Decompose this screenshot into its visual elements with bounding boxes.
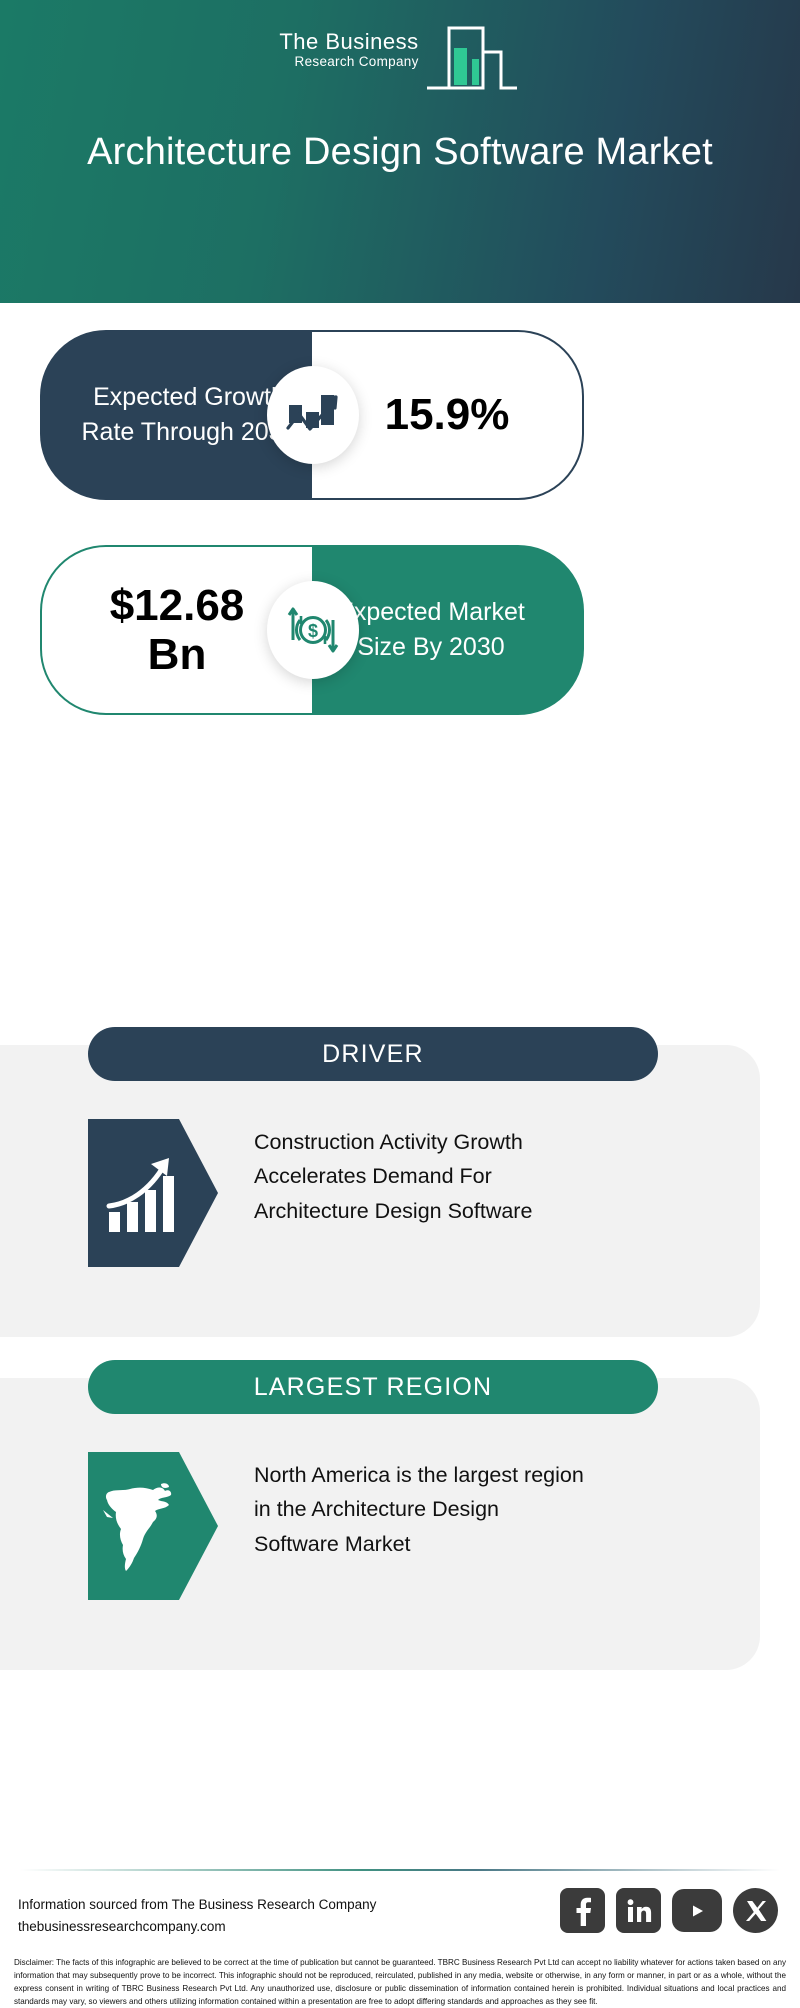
bar-growth-arrow-icon [88, 1119, 218, 1267]
footer-divider [20, 1869, 780, 1871]
stat-card-market-size: $12.68 Bn Expected Market Size By 2030 $ [40, 545, 585, 715]
largest-region-pill-label: LARGEST REGION [88, 1360, 658, 1414]
growth-chart-icon [267, 366, 359, 464]
dollar-cycle-icon: $ [267, 581, 359, 679]
stat-card-growth-rate: Expected Growth Rate Through 2030 15.9% [40, 330, 585, 500]
page-title: Architecture Design Software Market [40, 128, 760, 177]
source-line-1: Information sourced from The Business Re… [18, 1894, 376, 1916]
source-website[interactable]: thebusinessresearchcompany.com [18, 1916, 376, 1938]
svg-text:$: $ [307, 621, 317, 641]
market-size-value-line1: $12.68 [110, 581, 245, 630]
largest-region-body: North America is the largest region in t… [88, 1452, 720, 1600]
panel-driver: DRIVER Construction Activity Growth Acce… [0, 1045, 760, 1337]
infographic-page: The Business Research Company Architectu… [0, 0, 800, 2000]
disclaimer-text: Disclaimer: The facts of this infographi… [14, 1956, 786, 2008]
driver-pill-label: DRIVER [88, 1027, 658, 1081]
header-banner: The Business Research Company Architectu… [0, 0, 800, 303]
logo-text: The Business Research Company [279, 24, 418, 71]
company-logo: The Business Research Company [0, 24, 800, 92]
logo-line-2: Research Company [279, 53, 418, 71]
panel-largest-region: LARGEST REGION North America is the larg… [0, 1378, 760, 1670]
driver-description: Construction Activity Growth Accelerates… [254, 1119, 584, 1228]
market-size-value-line2: Bn [148, 630, 207, 679]
social-links [560, 1888, 778, 1933]
linkedin-icon[interactable] [616, 1888, 661, 1933]
north-america-map-icon [88, 1452, 218, 1600]
youtube-icon[interactable] [672, 1889, 722, 1932]
source-attribution: Information sourced from The Business Re… [18, 1894, 376, 1939]
largest-region-description: North America is the largest region in t… [254, 1452, 584, 1561]
x-twitter-icon[interactable] [733, 1888, 778, 1933]
facebook-icon[interactable] [560, 1888, 605, 1933]
driver-body: Construction Activity Growth Accelerates… [88, 1119, 720, 1267]
bar-chart-logo-mark [423, 24, 521, 92]
logo-line-1: The Business [279, 30, 418, 53]
